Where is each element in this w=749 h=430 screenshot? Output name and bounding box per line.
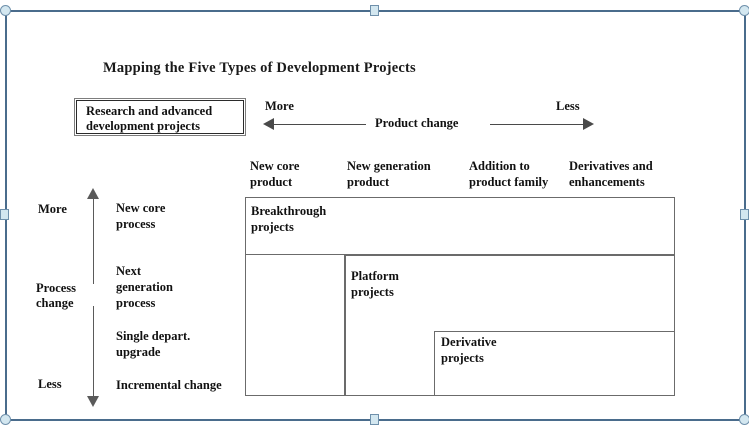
column-header-new-core-product: New core product <box>250 158 346 190</box>
resize-handle-top-left[interactable] <box>0 5 11 16</box>
resize-handle-top-right[interactable] <box>739 5 749 16</box>
col-header-1-line1: New generation <box>347 158 467 174</box>
resize-handle-bottom-right[interactable] <box>739 414 749 425</box>
row-label-1-line2: generation <box>116 279 173 295</box>
breakthrough-line1: Breakthrough <box>251 203 349 219</box>
col-header-3-line2: enhancements <box>569 174 684 190</box>
arrow-down-icon <box>87 396 99 407</box>
vertical-axis-less-label: Less <box>38 377 62 392</box>
research-box-line1: Research and advanced <box>86 104 243 119</box>
resize-handle-bottom-left[interactable] <box>0 414 11 425</box>
resize-handle-middle-right[interactable] <box>740 209 749 220</box>
resize-handle-bottom-center[interactable] <box>370 414 379 425</box>
horizontal-axis-line-left <box>272 124 366 125</box>
derivative-line2: projects <box>441 350 551 366</box>
row-label-incremental-change: Incremental change <box>116 377 222 393</box>
research-box-inner: Research and advanced development projec… <box>76 100 244 134</box>
row-label-2-line2: upgrade <box>116 344 190 360</box>
horizontal-axis-less-label: Less <box>556 99 580 114</box>
diagram-title: Mapping the Five Types of Development Pr… <box>103 60 416 77</box>
row-label-0-line2: process <box>116 216 165 232</box>
vertical-axis-label-line1: Process <box>36 281 76 296</box>
derivative-line1: Derivative <box>441 334 551 350</box>
research-box-line2: development projects <box>86 119 243 134</box>
column-header-addition-to-product-family: Addition to product family <box>469 158 569 190</box>
row-label-2-line1: Single depart. <box>116 328 190 344</box>
horizontal-axis-more-label: More <box>265 99 294 114</box>
column-header-new-generation-product: New generation product <box>347 158 467 190</box>
horizontal-axis-line-right <box>490 124 584 125</box>
row-label-single-depart-upgrade: Single depart. upgrade <box>116 328 190 360</box>
research-and-advanced-development-box[interactable]: Research and advanced development projec… <box>74 98 246 136</box>
col-header-0-line1: New core <box>250 158 346 174</box>
column-header-derivatives-and-enhancements: Derivatives and enhancements <box>569 158 684 190</box>
col-header-1-line2: product <box>347 174 467 190</box>
derivative-projects-label: Derivative projects <box>441 334 551 366</box>
resize-handle-top-center[interactable] <box>370 5 379 16</box>
horizontal-axis-label: Product change <box>372 116 461 131</box>
row-label-new-core-process: New core process <box>116 200 165 232</box>
col-header-0-line2: product <box>250 174 346 190</box>
platform-line1: Platform <box>351 268 461 284</box>
vertical-axis-line-upper <box>93 196 94 284</box>
arrow-right-icon <box>583 118 594 130</box>
resize-handle-middle-left[interactable] <box>0 209 9 220</box>
platform-projects-label: Platform projects <box>351 268 461 300</box>
col-header-2-line2: product family <box>469 174 569 190</box>
row-label-3-line1: Incremental change <box>116 377 222 393</box>
row-label-next-generation-process: Next generation process <box>116 263 173 311</box>
breakthrough-projects-label: Breakthrough projects <box>251 203 349 235</box>
matrix-first-column-box[interactable] <box>245 255 345 396</box>
col-header-2-line1: Addition to <box>469 158 569 174</box>
vertical-axis-line-lower <box>93 306 94 398</box>
row-label-0-line1: New core <box>116 200 165 216</box>
col-header-3-line1: Derivatives and <box>569 158 684 174</box>
row-label-1-line3: process <box>116 295 173 311</box>
vertical-axis-label: Process change <box>36 281 76 311</box>
vertical-axis-label-line2: change <box>36 296 76 311</box>
breakthrough-line2: projects <box>251 219 349 235</box>
vertical-axis-more-label: More <box>38 202 67 217</box>
row-label-1-line1: Next <box>116 263 173 279</box>
document-canvas: Mapping the Five Types of Development Pr… <box>0 0 749 430</box>
platform-line2: projects <box>351 284 461 300</box>
